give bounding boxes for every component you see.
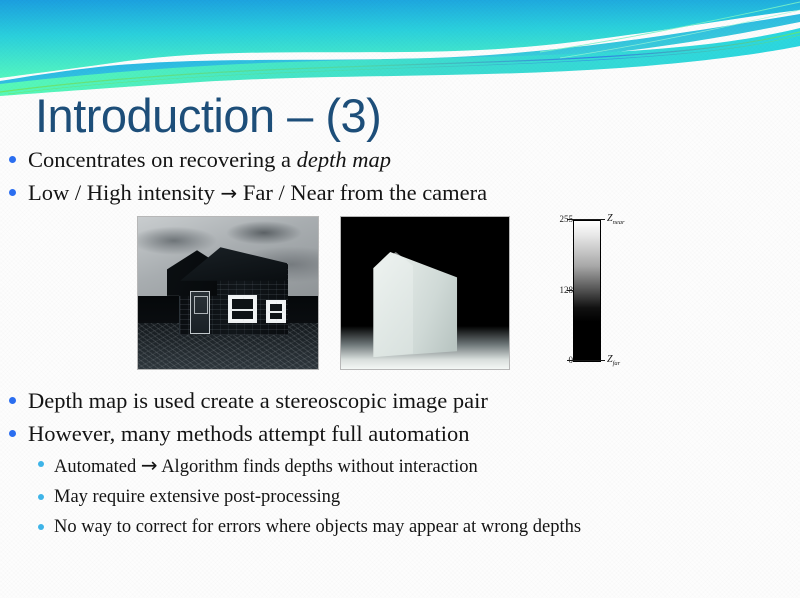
figure-group: 255 128 0 Znear Zfar — [125, 216, 645, 376]
bullet-list-bottom: Depth map is used create a stereoscopic … — [0, 386, 800, 539]
bullet-dot-icon — [9, 430, 16, 437]
bullet-dot-icon — [9, 189, 16, 196]
arrow-icon: → — [141, 453, 158, 477]
sub-bullet-item: No way to correct for errors where objec… — [28, 515, 800, 539]
slide: Introduction – (3) Concentrates on recov… — [0, 0, 800, 598]
slide-title: Introduction – (3) — [35, 88, 381, 143]
sub-bullet-text-prefix: Automated — [54, 457, 141, 477]
colorbar-znear-label: Znear — [607, 213, 624, 226]
colorbar-zfar-label: Zfar — [607, 354, 620, 367]
house-photo-image — [137, 216, 319, 370]
sub-bullet-text: No way to correct for errors where objec… — [54, 517, 581, 537]
colorbar-gradient — [573, 220, 601, 362]
bullet-list-top: Concentrates on recovering a depth map L… — [0, 145, 800, 208]
colorbar-tick-label-255: 255 — [560, 214, 574, 224]
sub-bullet-dot-icon — [38, 461, 44, 467]
sub-bullet-list: Automated → Algorithm finds depths witho… — [0, 452, 800, 539]
bullet-text: However, many methods attempt full autom… — [28, 421, 470, 446]
depth-colorbar: 255 128 0 Znear Zfar — [537, 212, 645, 372]
sub-bullet-dot-icon — [38, 524, 44, 530]
bullet-text-suffix: Far / Near from the camera — [237, 180, 487, 205]
sub-bullet-dot-icon — [38, 494, 44, 500]
slide-body: Concentrates on recovering a depth map L… — [0, 145, 800, 545]
header-wave-decoration — [0, 0, 800, 100]
bullet-item: Concentrates on recovering a depth map — [0, 145, 800, 175]
photo-house-window — [228, 295, 257, 323]
colorbar-tick-label-128: 128 — [560, 285, 574, 295]
bullet-dot-icon — [9, 156, 16, 163]
bullet-item: However, many methods attempt full autom… — [0, 419, 800, 449]
bullet-text-prefix: Concentrates on recovering a — [28, 147, 297, 172]
sub-bullet-item: May require extensive post-processing — [28, 485, 800, 509]
arrow-icon: → — [221, 181, 238, 205]
sub-bullet-text-suffix: Algorithm finds depths without interacti… — [158, 457, 478, 477]
bullet-text-italic: depth map — [297, 147, 391, 172]
sub-bullet-item: Automated → Algorithm finds depths witho… — [28, 452, 800, 479]
photo-house-window — [266, 300, 286, 324]
bullet-item: Low / High intensity → Far / Near from t… — [0, 178, 800, 208]
photo-house-door — [190, 291, 210, 334]
bullet-text-prefix: Low / High intensity — [28, 180, 221, 205]
colorbar-tick-label-0: 0 — [569, 355, 574, 365]
bullet-text: Depth map is used create a stereoscopic … — [28, 388, 488, 413]
sub-bullet-text: May require extensive post-processing — [54, 487, 340, 507]
bullet-item: Depth map is used create a stereoscopic … — [0, 386, 800, 416]
depth-map-image — [340, 216, 510, 370]
bullet-dot-icon — [9, 397, 16, 404]
